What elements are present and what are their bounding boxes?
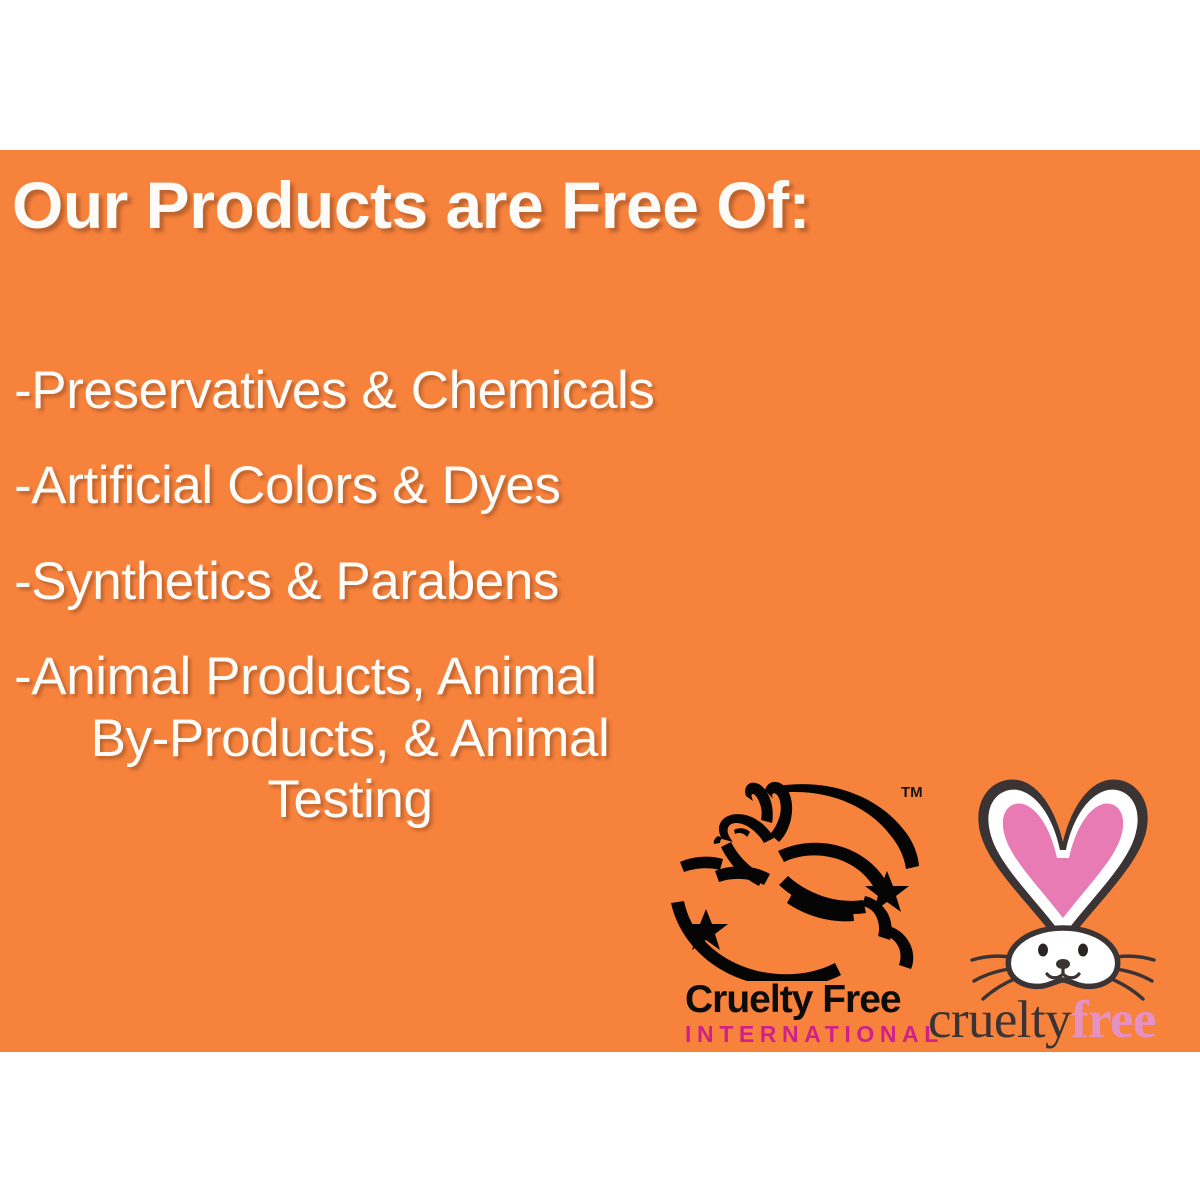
list-item-line: By-Products, & Animal [0, 708, 700, 769]
leaping-bunny-icon [660, 776, 922, 981]
poster-canvas: Our Products are Free Of: -Preservatives… [0, 0, 1200, 1200]
free-of-list: -Preservatives & Chemicals -Artificial C… [0, 360, 700, 831]
peta-word-free: free [1071, 991, 1156, 1049]
trademark-icon: TM [901, 784, 923, 801]
cfi-name-text: Cruelty Free [685, 980, 925, 1019]
page-title: Our Products are Free Of: [12, 171, 810, 240]
peta-word-cruelty: cruelty [928, 991, 1071, 1049]
peta-cruelty-free-logo: crueltyfree [930, 770, 1200, 1058]
list-item: -Synthetics & Parabens [0, 551, 700, 612]
list-item: -Animal Products, Animal By-Products, & … [0, 646, 700, 830]
certification-logos: TM Cruelty Free INTERNATIONAL [655, 768, 1200, 1058]
eye-right [1078, 944, 1088, 957]
cfi-subtitle-text: INTERNATIONAL [685, 1023, 925, 1046]
eye-left [1038, 944, 1048, 957]
list-item-line: -Animal Products, Animal [0, 646, 700, 707]
cfi-wordmark: Cruelty Free INTERNATIONAL [685, 980, 925, 1046]
list-item: -Preservatives & Chemicals [0, 360, 700, 421]
heart-ears-bunny-icon [958, 770, 1168, 1002]
list-item: -Artificial Colors & Dyes [0, 455, 700, 516]
peta-wordmark: crueltyfree [928, 994, 1200, 1047]
heart-ears-pink [1003, 803, 1123, 918]
cruelty-free-international-logo: TM Cruelty Free INTERNATIONAL [655, 768, 925, 1058]
list-item-line: Testing [0, 769, 700, 830]
bunny-face [1008, 928, 1117, 986]
